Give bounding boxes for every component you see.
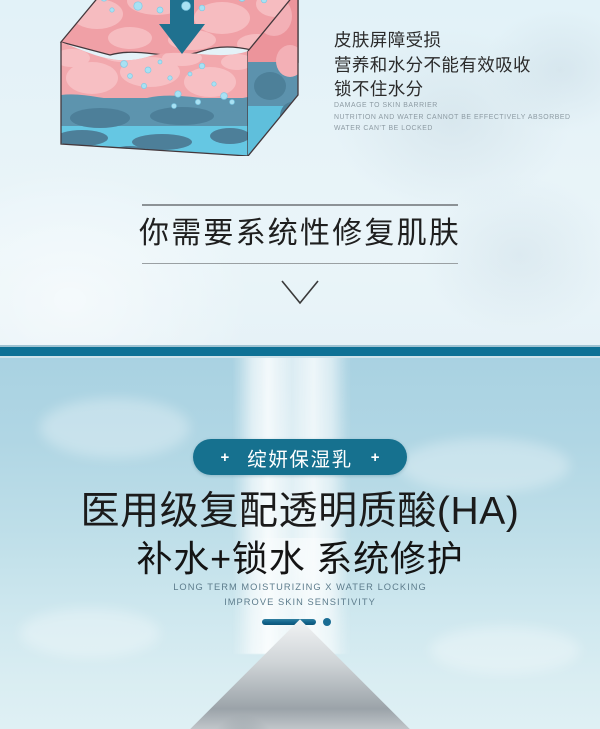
damage-heading-line-1: 皮肤屏障受损 xyxy=(334,28,584,53)
chevron-down-icon xyxy=(0,278,600,311)
damage-heading-line-3: 锁不住水分 xyxy=(334,77,584,102)
subtitle-line-2: IMPROVE SKIN SENSITIVITY xyxy=(0,595,600,610)
damage-english-line-3: WATER CAN'T BE LOCKED xyxy=(334,123,579,135)
damage-heading: 皮肤屏障受损 营养和水分不能有效吸收 锁不住水分 xyxy=(334,28,584,102)
product-name-badge[interactable]: + 绽妍保湿乳 + xyxy=(193,439,407,475)
subtitle-line-1: LONG TERM MOISTURIZING X WATER LOCKING xyxy=(0,580,600,595)
damage-english-line-1: DAMAGE TO SKIN BARRIER xyxy=(334,100,579,112)
water-swirl-1 xyxy=(40,398,190,458)
water-swirl-3 xyxy=(20,608,160,658)
progress-bar xyxy=(262,619,316,625)
section-divider xyxy=(0,345,600,358)
subtitle-english: LONG TERM MOISTURIZING X WATER LOCKING I… xyxy=(0,580,600,609)
product-detail-page: 皮肤屏障受损 营养和水分不能有效吸收 锁不住水分 DAMAGE TO SKIN … xyxy=(0,0,600,729)
mid-headline-block: 你需要系统性修复肌肤 xyxy=(0,204,600,284)
mid-title: 你需要系统性修复肌肤 xyxy=(0,210,600,258)
damage-heading-line-2: 营养和水分不能有效吸收 xyxy=(334,53,584,78)
headline-secondary: 补水+锁水 系统修护 xyxy=(0,534,600,584)
damage-english-caption: DAMAGE TO SKIN BARRIER NUTRITION AND WAT… xyxy=(334,100,579,135)
headline-primary: 医用级复配透明质酸(HA) xyxy=(0,486,600,538)
badge-label: 绽妍保湿乳 xyxy=(247,443,353,472)
progress-dot xyxy=(323,618,331,626)
divider-bar xyxy=(0,347,600,356)
top-section: 皮肤屏障受损 营养和水分不能有效吸收 锁不住水分 DAMAGE TO SKIN … xyxy=(0,0,600,347)
diamond-highlight-shape xyxy=(310,717,405,729)
skin-cross-section-diagram xyxy=(52,0,310,156)
plus-right-icon: + xyxy=(371,450,380,465)
plus-left-icon: + xyxy=(220,450,229,465)
damage-english-line-2: NUTRITION AND WATER CANNOT BE EFFECTIVEL… xyxy=(334,112,579,124)
rule-bottom xyxy=(142,263,458,264)
water-swirl-4 xyxy=(430,626,580,674)
rule-top xyxy=(142,204,458,206)
water-swirl-2 xyxy=(400,438,570,493)
